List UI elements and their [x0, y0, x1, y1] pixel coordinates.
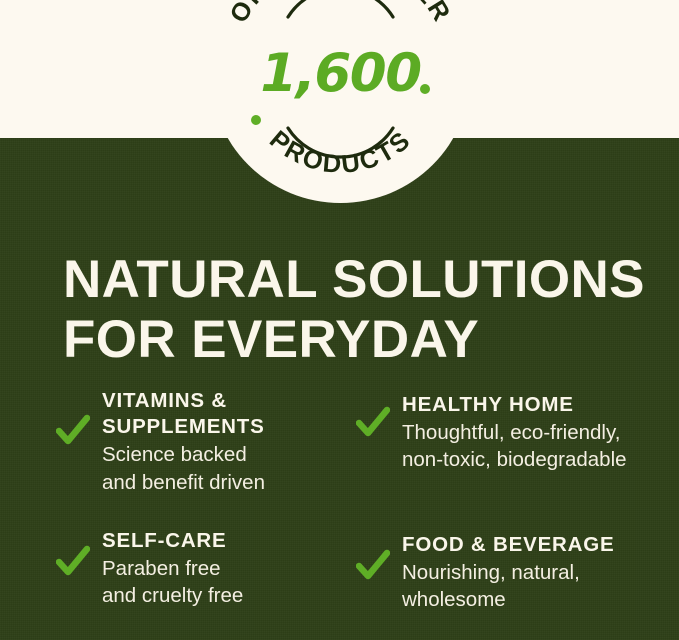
check-icon: [56, 545, 90, 579]
feature-body: VITAMINS & SUPPLEMENTS Science backed an…: [102, 388, 265, 496]
promo-banner: OFFERING OVER PRODUCTS 1,600 NATURAL SOL…: [0, 0, 679, 640]
badge-dot-left-icon: [251, 115, 261, 125]
feature-item-self-care: SELF-CARE Paraben free and cruelty free: [56, 528, 356, 609]
feature-body: HEALTHY HOME Thoughtful, eco-friendly, n…: [402, 392, 627, 473]
check-icon: [356, 406, 390, 440]
badge-bottom-arc-label: PRODUCTS: [264, 126, 417, 179]
feature-title: FOOD & BEVERAGE: [402, 532, 614, 558]
check-icon: [356, 549, 390, 583]
feature-body: FOOD & BEVERAGE Nourishing, natural, who…: [402, 532, 614, 613]
badge-upper-divider-arc: [288, 0, 393, 17]
headline-line-1: NATURAL SOLUTIONS: [63, 253, 663, 306]
feature-description: Nourishing, natural, wholesome: [402, 559, 614, 613]
check-icon: [56, 414, 90, 448]
product-count-badge: OFFERING OVER PRODUCTS 1,600: [210, 0, 471, 203]
feature-description: Thoughtful, eco-friendly, non-toxic, bio…: [402, 419, 627, 473]
badge-count-value: 1,600: [210, 47, 471, 100]
feature-body: SELF-CARE Paraben free and cruelty free: [102, 528, 243, 609]
feature-title: VITAMINS & SUPPLEMENTS: [102, 388, 265, 440]
feature-description: Science backed and benefit driven: [102, 441, 265, 495]
feature-item-food-beverage: FOOD & BEVERAGE Nourishing, natural, who…: [356, 532, 656, 613]
feature-title: SELF-CARE: [102, 528, 243, 554]
badge-top-arc-label: OFFERING OVER: [225, 0, 457, 28]
headline-line-2: FOR EVERYDAY: [63, 313, 663, 366]
feature-description: Paraben free and cruelty free: [102, 555, 243, 609]
feature-list: VITAMINS & SUPPLEMENTS Science backed an…: [0, 388, 679, 638]
feature-title: HEALTHY HOME: [402, 392, 627, 418]
feature-item-healthy-home: HEALTHY HOME Thoughtful, eco-friendly, n…: [356, 392, 656, 473]
feature-item-vitamins-supplements: VITAMINS & SUPPLEMENTS Science backed an…: [56, 388, 356, 496]
page-title: NATURAL SOLUTIONS FOR EVERYDAY: [63, 253, 663, 366]
